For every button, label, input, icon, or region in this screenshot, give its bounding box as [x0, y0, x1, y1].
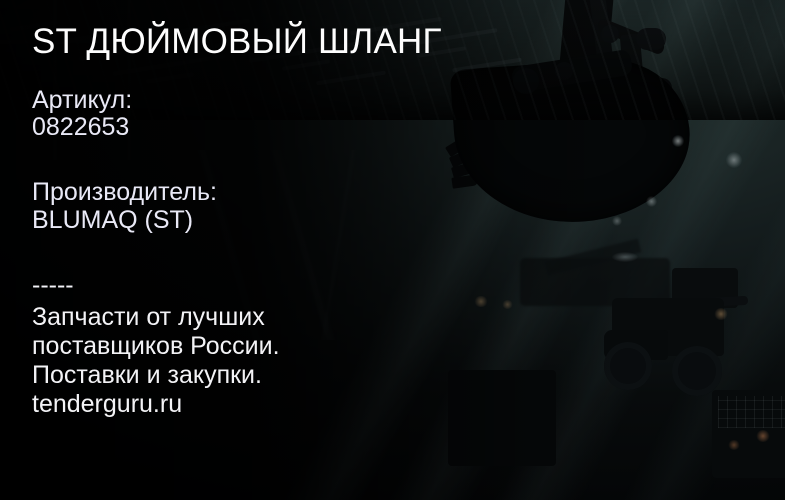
- bucket-ear-icon: [555, 62, 573, 80]
- banner-content: ST ДЮЙМОВЫЙ ШЛАНГ Артикул: 0822653 Произ…: [32, 0, 502, 500]
- promo-line-2: поставщиков России.: [32, 332, 280, 361]
- product-banner-card: ST ДЮЙМОВЫЙ ШЛАНГ Артикул: 0822653 Произ…: [0, 0, 785, 500]
- lamp-glow: [726, 152, 742, 168]
- divider-dashes: -----: [32, 272, 74, 298]
- grate-pattern: [718, 396, 785, 428]
- lamp-glow: [756, 430, 770, 442]
- promo-line-1: Запчасти от лучших: [32, 303, 280, 332]
- article-label: Артикул:: [32, 86, 132, 115]
- excavator-pin-icon: [636, 28, 666, 50]
- lamp-glow: [714, 308, 728, 320]
- manufacturer-label: Производитель:: [32, 178, 217, 207]
- promo-block: Запчасти от лучших поставщиков России. П…: [32, 303, 280, 419]
- loader-wheel-icon: [672, 346, 722, 396]
- lamp-glow: [612, 252, 638, 262]
- product-title: ST ДЮЙМОВЫЙ ШЛАНГ: [32, 22, 442, 62]
- bucket-ear-icon: [513, 68, 539, 94]
- promo-site-url[interactable]: tenderguru.ru: [32, 390, 280, 419]
- promo-line-3: Поставки и закупки.: [32, 361, 280, 390]
- article-value: 0822653: [32, 113, 129, 142]
- lamp-glow: [612, 216, 622, 226]
- excavator-pin-icon: [601, 25, 619, 43]
- lamp-glow: [728, 440, 740, 450]
- loader-wheel-icon: [604, 342, 652, 390]
- lamp-glow: [646, 196, 657, 207]
- lamp-glow: [502, 300, 513, 309]
- lamp-glow: [672, 135, 684, 147]
- manufacturer-value: BLUMAQ (ST): [32, 206, 193, 235]
